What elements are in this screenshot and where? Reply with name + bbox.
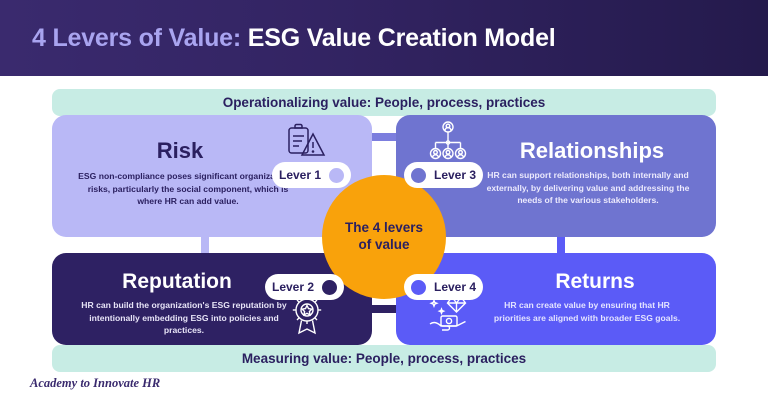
stakeholder-network-icon [428, 121, 468, 166]
hand-diamond-icon [428, 295, 470, 340]
lever-4-dot [411, 280, 426, 295]
page-title-main: ESG Value Creation Model [248, 24, 556, 52]
award-ribbon-icon [288, 295, 326, 340]
center-hub-line1: The 4 levers [345, 220, 423, 235]
banner-measuring: Measuring value: People, process, practi… [52, 345, 716, 372]
lever-badge-4[interactable]: Lever 4 [404, 274, 483, 300]
footer-attribution: Academy to Innovate HR [30, 376, 160, 391]
page-header: 4 Levers of Value: ESG Value Creation Mo… [0, 0, 768, 76]
infographic-canvas: 4 Levers of Value: ESG Value Creation Mo… [0, 0, 768, 402]
lever-1-dot [329, 168, 344, 183]
banner-operationalizing: Operationalizing value: People, process,… [52, 89, 716, 116]
lever-badge-1[interactable]: Lever 1 [272, 162, 351, 188]
lever-4-label: Lever 4 [434, 280, 476, 294]
lever-badge-2[interactable]: Lever 2 [265, 274, 344, 300]
lever-1-label: Lever 1 [279, 168, 321, 182]
banner-top-label: Operationalizing value: People, process,… [223, 95, 546, 110]
lever-badge-3[interactable]: Lever 3 [404, 162, 483, 188]
lever-3-dot [411, 168, 426, 183]
lever-2-label: Lever 2 [272, 280, 314, 294]
page-title-prefix: 4 Levers of Value: [32, 24, 241, 52]
lever-2-dot [322, 280, 337, 295]
center-hub-line2: of value [358, 237, 409, 252]
lever-3-label: Lever 3 [434, 168, 476, 182]
banner-bottom-label: Measuring value: People, process, practi… [242, 351, 526, 366]
clipboard-warning-icon [286, 123, 326, 166]
page-title: 4 Levers of Value: ESG Value Creation Mo… [32, 24, 556, 53]
